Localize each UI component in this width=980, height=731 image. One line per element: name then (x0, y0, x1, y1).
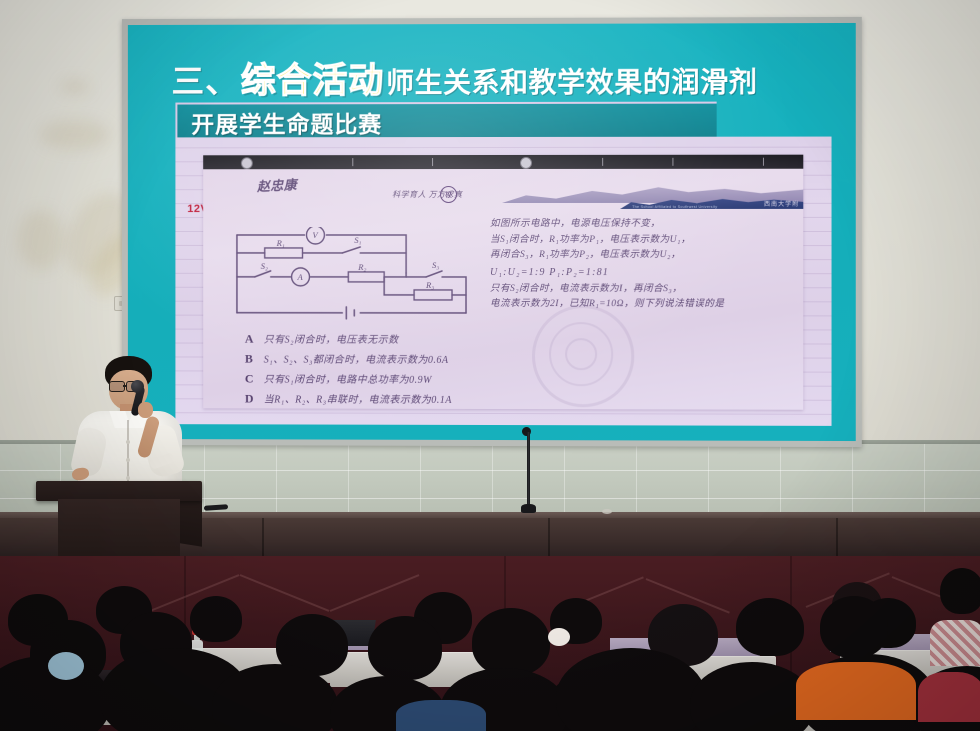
problem-line: 电流表示数为2I，已知R₁=10Ω，则下列说法错误的是 (490, 297, 791, 313)
svg-text:S₂: S₂ (261, 261, 268, 271)
answer-option: C 只有S₁闭合时，电路中总功率为0.9W (245, 371, 544, 390)
exam-sheet-photo: 赵忠康 科学育人 万方求真 校 The School Affiliated to… (203, 155, 803, 410)
mountain-graphic-icon: The School Affiliated to Southwest Unive… (502, 181, 803, 211)
scanned-exam-panel: 12V (175, 137, 831, 426)
projection-screen: 三、 综合活动 师生关系和教学效果的润滑剂 开展学生命题比赛 (122, 17, 862, 447)
lecture-hall-photo: 三、 综合活动 师生关系和教学效果的润滑剂 开展学生命题比赛 (0, 0, 980, 731)
hair-tie (48, 652, 84, 680)
slide-subtitle-text: 开展学生命题比赛 (177, 105, 382, 139)
svg-text:R₁: R₁ (276, 238, 285, 248)
option-letter: D (245, 390, 257, 407)
svg-text:R₃: R₃ (425, 280, 434, 290)
presentation-slide: 三、 综合活动 师生关系和教学效果的润滑剂 开展学生命题比赛 (128, 23, 856, 441)
circuit-diagram: V A R₁ R₂ R₃ S₁ S₂ S₃ (231, 227, 480, 328)
answer-options-list: A 只有S₂闭合时，电压表无示数 B S₁、S₂、S₃都闭合时，电流表示数为0.… (245, 331, 544, 410)
svg-text:S₁: S₁ (354, 235, 361, 245)
answer-option: A 只有S₂闭合时，电压表无示数 (245, 331, 544, 349)
podium-body (58, 499, 180, 561)
problem-formula: U₁:U₂=1:9 P₁:P₂=1:81 (490, 264, 791, 282)
audience-head (368, 616, 442, 680)
glasses-bridge (123, 385, 127, 387)
option-letter: A (245, 331, 257, 348)
mountain-subtext: The School Affiliated to Southwest Unive… (632, 205, 717, 209)
answer-option: D 当R₁、R₂、R₃串联时，电流表示数为0.1A (245, 390, 544, 409)
svg-text:A: A (297, 272, 304, 282)
svg-text:R₂: R₂ (357, 262, 366, 272)
microphone-stand-pole (527, 432, 530, 510)
audience-head (820, 596, 888, 658)
counter-object (602, 509, 612, 514)
answer-option: B S₁、S₂、S₃都闭合时，电流表示数为0.6A (245, 351, 544, 370)
podium-top (36, 481, 202, 501)
microphone-stand-base (521, 504, 536, 513)
watermark-seal-icon (532, 305, 634, 407)
svg-text:S₃: S₃ (432, 260, 439, 270)
problem-line: 当S₁闭合时，R₁功率为P₁，电压表示数为U₁， (490, 233, 791, 249)
option-text: 只有S₂闭合时，电压表无示数 (264, 332, 399, 349)
slide-subtitle-bar: 开展学生命题比赛 (175, 102, 716, 140)
problem-line: 如图所示电路中，电源电压保持不变， (490, 217, 791, 233)
mountain-label: 西南大学附 (764, 199, 799, 208)
audience-head (472, 608, 550, 676)
hair-tie (548, 628, 570, 646)
audience-checkered-shirt (930, 620, 980, 666)
slide-title-rest: 师生关系和教学效果的润滑剂 (386, 60, 757, 101)
presenter-right-hand (138, 402, 153, 418)
problem-text-block: 如图所示电路中，电源电压保持不变， 当S₁闭合时，R₁功率为P₁，电压表示数为U… (490, 217, 791, 313)
problem-line: 再闭合S₃，R₁功率为P₂，电压表示数为U₂， (490, 248, 791, 264)
photo-top-edge (203, 155, 803, 170)
audience-shoulders (918, 672, 980, 722)
microphone-head-icon (131, 380, 144, 393)
option-text: 当R₁、R₂、R₃串联时，电流表示数为0.1A (264, 392, 452, 409)
option-letter: B (245, 351, 257, 368)
problem-line: 只有S₂闭合时，电流表示数为I，再闭合S₃， (490, 282, 791, 298)
audience-head (742, 600, 804, 656)
slide-title-highlight: 综合活动 (241, 52, 384, 103)
option-letter: C (245, 371, 257, 388)
svg-text:V: V (312, 230, 318, 240)
option-text: 只有S₁闭合时，电路中总功率为0.9W (264, 372, 432, 389)
audience-orange-shirt (796, 662, 916, 720)
exam-letterhead: 科学育人 万方求真 校 The School Affiliated to Sou… (203, 181, 803, 213)
option-text: S₁、S₂、S₃都闭合时，电流表示数为0.6A (264, 352, 449, 369)
slide-title: 三、 综合活动 师生关系和教学效果的润滑剂 (171, 51, 831, 98)
audience-shoulders (396, 700, 486, 731)
school-logo-icon: 校 (440, 186, 457, 203)
slide-title-number: 三、 (171, 55, 238, 103)
